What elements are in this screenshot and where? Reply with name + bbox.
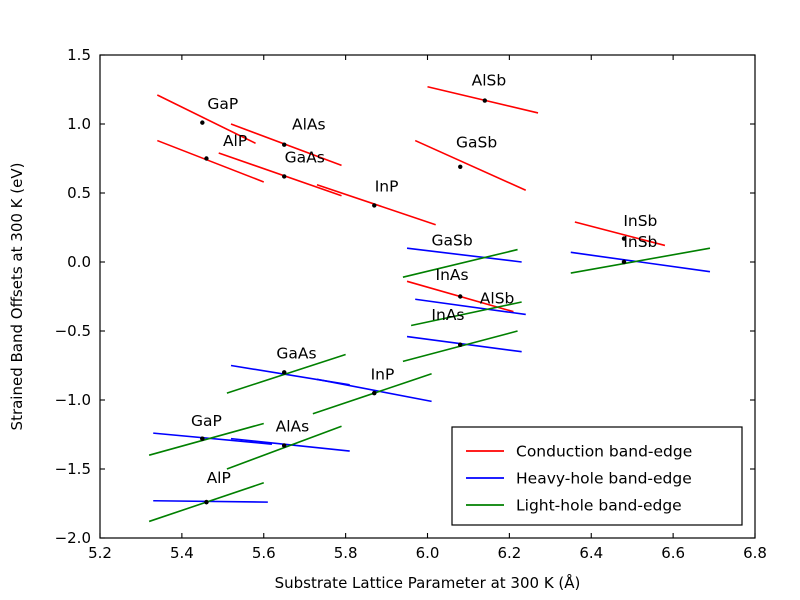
annotation-label: InAs	[431, 306, 464, 324]
data-point-marker	[200, 120, 204, 124]
legend-label-heavy-hole: Heavy-hole band-edge	[516, 470, 692, 488]
data-point-marker	[372, 391, 376, 395]
series-line	[157, 141, 263, 182]
data-point-marker	[282, 370, 286, 374]
annotation-label: AlSb	[472, 71, 507, 89]
x-tick-label: 5.2	[88, 544, 112, 562]
x-tick-label: 6.8	[743, 544, 767, 562]
data-point-marker	[282, 174, 286, 178]
annotation-label: AlP	[207, 469, 231, 487]
annotation-label: InSb	[623, 233, 657, 251]
annotation-label: InAs	[436, 266, 469, 284]
x-tick-label: 6.4	[579, 544, 603, 562]
data-point-marker	[282, 143, 286, 147]
y-tick-label: 0.0	[67, 253, 91, 271]
x-tick-label: 5.8	[334, 544, 358, 562]
band-offset-chart: 5.25.45.65.86.06.26.46.66.81.51.00.50.0−…	[0, 0, 800, 600]
legend-label-conduction: Conduction band-edge	[516, 443, 692, 461]
x-tick-label: 5.4	[170, 544, 194, 562]
data-point-marker	[372, 203, 376, 207]
series-alsb-conduction	[428, 87, 539, 113]
annotation-label: InP	[375, 178, 399, 196]
y-tick-label: 1.0	[67, 115, 91, 133]
series-gasb-heavy-hole	[407, 248, 522, 262]
annotation-label: GaP	[191, 412, 222, 430]
y-tick-label: 1.5	[67, 46, 91, 64]
annotation-label: GaSb	[431, 231, 472, 249]
x-axis-title: Substrate Lattice Parameter at 300 K (Å)	[275, 573, 581, 592]
annotation-label: GaAs	[285, 149, 325, 167]
series-inas-lower-heavy-hole	[407, 337, 522, 352]
y-tick-label: −0.5	[55, 322, 91, 340]
annotation-label: InP	[371, 365, 395, 383]
annotation-label: AlP	[223, 132, 247, 150]
annotation-label: GaSb	[456, 133, 497, 151]
annotation-label: InSb	[623, 212, 657, 230]
annotation-label: AlSb	[480, 289, 515, 307]
y-tick-label: −1.0	[55, 391, 91, 409]
annotation-label: GaP	[207, 95, 238, 113]
x-tick-label: 6.2	[497, 544, 521, 562]
x-tick-label: 6.6	[661, 544, 685, 562]
x-tick-label: 5.6	[252, 544, 276, 562]
annotation-label: AlAs	[292, 116, 326, 134]
series-alp-conduction	[157, 141, 263, 182]
data-point-marker	[204, 156, 208, 160]
data-point-marker	[483, 98, 487, 102]
data-point-marker	[204, 500, 208, 504]
annotation-label: AlAs	[276, 418, 310, 436]
series-line	[153, 433, 272, 444]
x-tick-label: 6.0	[416, 544, 440, 562]
y-tick-label: −1.5	[55, 460, 91, 478]
y-tick-label: 0.5	[67, 184, 91, 202]
data-point-marker	[200, 436, 204, 440]
series-gap-heavy-hole	[153, 433, 272, 444]
data-point-marker	[458, 294, 462, 298]
data-point-marker	[282, 443, 286, 447]
data-point-marker	[458, 343, 462, 347]
legend-label-light-hole: Light-hole band-edge	[516, 497, 682, 515]
series-inas-lower-light-hole	[403, 331, 518, 361]
y-tick-label: −2.0	[55, 529, 91, 547]
annotation-label: GaAs	[276, 345, 316, 363]
figure-canvas: 5.25.45.65.86.06.26.46.66.81.51.00.50.0−…	[0, 0, 800, 600]
series-line	[407, 337, 522, 352]
data-point-marker	[458, 165, 462, 169]
y-axis-title: Strained Band Offsets at 300 K (eV)	[8, 163, 26, 431]
series-line	[407, 248, 522, 262]
data-point-marker	[622, 260, 626, 264]
